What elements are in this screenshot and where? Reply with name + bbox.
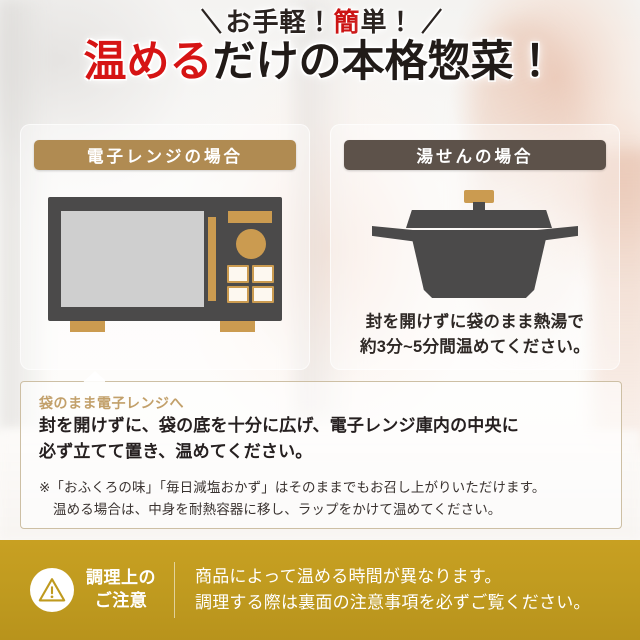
microwave-oven-icon — [48, 197, 282, 335]
microwave-display — [228, 211, 272, 223]
headline-highlight: 温める — [84, 37, 213, 87]
subtitle: ＼お手軽！簡単！／ — [0, 10, 640, 36]
caution-text: 商品によって温める時間が異なります。 調理する際は裏面の注意事項を必ずご覧くださ… — [195, 564, 640, 617]
microwave-button — [227, 286, 249, 304]
instruction-subheading: 袋のまま電子レンジへ — [39, 393, 184, 413]
slash-right-decoration: ／ — [416, 10, 445, 36]
instruction-note-line-1: ※「おふくろの味」「毎日減塩おかず」はそのままでもお召し上がりいただけます。 — [39, 477, 614, 499]
caution-text-line-2: 調理する際は裏面の注意事項を必ずご覧ください。 — [195, 590, 640, 616]
instruction-line-1: 封を開けずに、袋の底を十分に広げ、電子レンジ庫内の中央に — [39, 413, 609, 439]
cooking-pot-icon — [372, 190, 578, 300]
subtitle-part-2-highlight: 簡 — [333, 8, 360, 38]
microwave-button — [252, 265, 274, 283]
microwave-button — [252, 286, 274, 304]
microwave-door-handle — [208, 217, 216, 301]
instruction-callout-box: 袋のまま電子レンジへ 封を開けずに、袋の底を十分に広げ、電子レンジ庫内の中央に … — [20, 381, 622, 529]
hot-water-caption-line-2: 約3分~5分間温めてください。 — [330, 335, 620, 360]
instruction-line-2: 必ず立てて置き、温めてください。 — [39, 439, 609, 465]
subtitle-part-1: お手軽！ — [225, 8, 333, 38]
caution-label-line-2: ご注意 — [86, 590, 156, 613]
instruction-body: 封を開けずに、袋の底を十分に広げ、電子レンジ庫内の中央に 必ず立てて置き、温めて… — [39, 413, 609, 466]
microwave-foot-right — [220, 321, 255, 332]
instruction-note: ※「おふくろの味」「毎日減塩おかず」はそのままでもお召し上がりいただけます。 温… — [39, 477, 614, 522]
microwave-window — [61, 211, 204, 307]
instruction-note-line-2: 温める場合は、中身を耐熱容器に移し、ラップをかけて温めてください。 — [39, 499, 614, 521]
warning-triangle-icon — [30, 568, 74, 612]
microwave-button — [227, 265, 249, 283]
caution-label-line-1: 調理上の — [86, 567, 156, 590]
caution-divider — [174, 562, 175, 618]
hot-water-section-header: 湯せんの場合 — [344, 140, 606, 170]
pot-lid — [406, 210, 552, 228]
page-title: 温めるだけの本格惣菜！ — [0, 40, 640, 85]
headline-rest: だけの本格惣菜！ — [213, 37, 557, 87]
microwave-dial-knob — [236, 229, 266, 259]
subtitle-part-3: 単！ — [361, 8, 415, 38]
caution-label: 調理上の ご注意 — [86, 567, 156, 613]
caution-text-line-1: 商品によって温める時間が異なります。 — [195, 564, 640, 590]
product-instruction-graphic: ＼お手軽！簡単！／ 温めるだけの本格惣菜！ 電子レンジの場合 湯せんの場合 封を… — [0, 0, 640, 640]
microwave-section-header: 電子レンジの場合 — [34, 140, 296, 170]
caution-bar: 調理上の ご注意 商品によって温める時間が異なります。 調理する際は裏面の注意事… — [0, 540, 640, 640]
title-block: ＼お手軽！簡単！／ 温めるだけの本格惣菜！ — [0, 10, 640, 85]
microwave-foot-left — [70, 321, 105, 332]
callout-pointer — [83, 371, 105, 382]
microwave-button-grid — [227, 265, 274, 303]
hot-water-caption-line-1: 封を開けずに袋のまま熱湯で — [330, 310, 620, 335]
slash-left-decoration: ＼ — [196, 10, 225, 36]
pot-body — [410, 230, 548, 298]
hot-water-instruction-text: 封を開けずに袋のまま熱湯で 約3分~5分間温めてください。 — [330, 310, 620, 360]
